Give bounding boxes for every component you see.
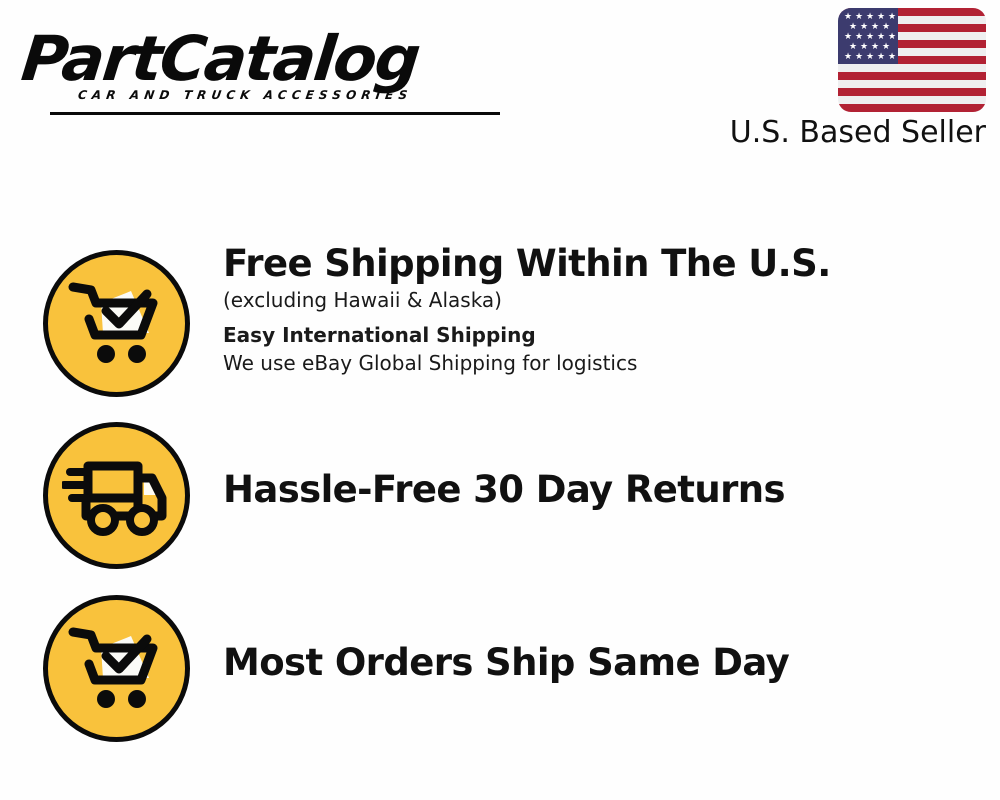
us-based-seller-label: U.S. Based Seller xyxy=(710,115,986,151)
feature-text-block: Hassle-Free 30 Day Returns xyxy=(223,468,990,512)
shopping-cart-check-icon xyxy=(43,595,190,742)
brand-tagline: CAR AND TRUCK ACCESSORIES xyxy=(77,88,493,102)
us-based-seller-badge: ★ ★ ★ ★ ★ ★ ★ ★ ★ ★ ★ ★ ★ ★ ★ ★ ★ ★ ★ ★ … xyxy=(710,8,986,151)
feature-title: Most Orders Ship Same Day xyxy=(223,641,990,685)
delivery-truck-icon xyxy=(43,422,190,569)
feature-title: Free Shipping Within The U.S. xyxy=(223,242,990,286)
brand-wordmark: PartCatalog xyxy=(19,26,505,92)
brand-logo[interactable]: PartCatalog CAR AND TRUCK ACCESSORIES xyxy=(22,26,492,116)
feature-subtitle: Easy International Shipping xyxy=(223,321,990,349)
page-header: PartCatalog CAR AND TRUCK ACCESSORIES ★ … xyxy=(0,0,1000,170)
brand-underline-rule xyxy=(50,112,500,115)
shopping-cart-check-icon xyxy=(43,250,190,397)
feature-text-block: Most Orders Ship Same Day xyxy=(223,641,990,685)
feature-note: (excluding Hawaii & Alaska) xyxy=(223,286,990,314)
us-flag-icon: ★ ★ ★ ★ ★ ★ ★ ★ ★ ★ ★ ★ ★ ★ ★ ★ ★ ★ ★ ★ … xyxy=(838,8,986,112)
feature-subnote: We use eBay Global Shipping for logistic… xyxy=(223,349,990,377)
feature-text-block: Free Shipping Within The U.S. (excluding… xyxy=(223,242,990,377)
feature-title: Hassle-Free 30 Day Returns xyxy=(223,468,990,512)
